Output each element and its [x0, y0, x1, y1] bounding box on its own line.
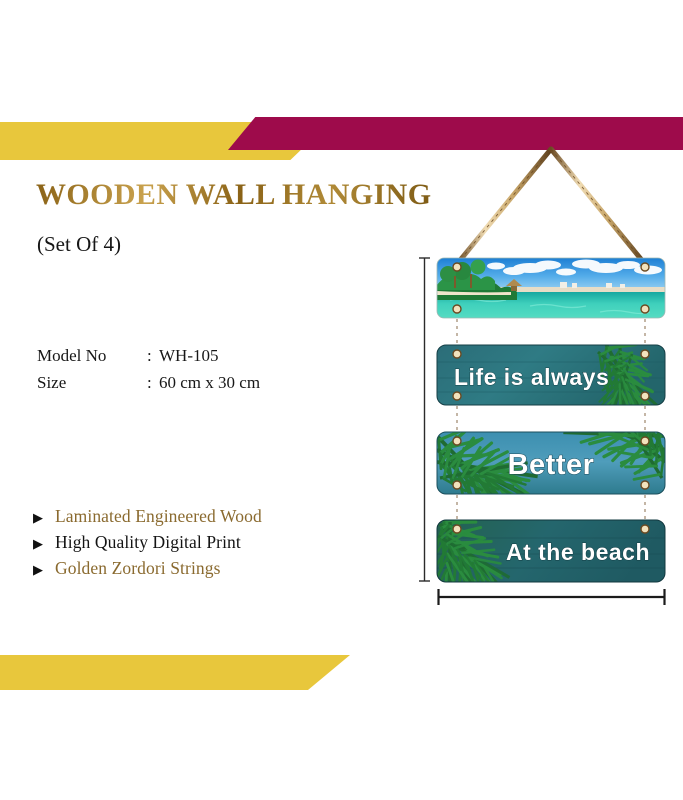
triangle-bullet-icon: ▶: [33, 537, 55, 550]
hanging-rope: [457, 149, 645, 264]
height-dimension-line: [419, 258, 430, 581]
page-subtitle: (Set Of 4): [37, 232, 121, 257]
triangle-bullet-icon: ▶: [33, 511, 55, 524]
product-image: Life is always Better: [410, 140, 683, 610]
hanging-rope-texture: [457, 149, 645, 264]
feature-item-material: ▶ Laminated Engineered Wood: [33, 506, 262, 532]
width-dimension-line: [438, 589, 665, 605]
feature-text-print: High Quality Digital Print: [55, 532, 241, 553]
spec-separator-size: :: [147, 373, 159, 393]
panel-beach-photo: [437, 258, 665, 318]
bottom-gold-ribbon: [0, 655, 350, 690]
connector-ropes: [457, 312, 645, 527]
feature-item-strings: ▶ Golden Zordori Strings: [33, 558, 262, 584]
triangle-bullet-icon: ▶: [33, 563, 55, 576]
product-listing-page: WOODEN WALL HANGING (Set Of 4) Model No …: [0, 0, 683, 800]
feature-list: ▶ Laminated Engineered Wood ▶ High Quali…: [33, 506, 262, 584]
panel-at-the-beach: At the beach: [410, 504, 665, 610]
feature-item-print: ▶ High Quality Digital Print: [33, 532, 262, 558]
spec-value-model: WH-105: [159, 346, 218, 366]
panel-text-at-the-beach: At the beach: [506, 539, 650, 565]
panel-text-life-is-always: Life is always: [454, 364, 609, 390]
spec-row-model: Model No : WH-105: [37, 346, 260, 373]
spec-label-model: Model No: [37, 346, 147, 366]
spec-value-size: 60 cm x 30 cm: [159, 373, 260, 393]
page-title: WOODEN WALL HANGING: [36, 178, 431, 212]
spec-row-size: Size : 60 cm x 30 cm: [37, 373, 260, 400]
feature-text-strings: Golden Zordori Strings: [55, 558, 221, 579]
specification-list: Model No : WH-105 Size : 60 cm x 30 cm: [37, 346, 260, 400]
spec-label-size: Size: [37, 373, 147, 393]
feature-text-material: Laminated Engineered Wood: [55, 506, 262, 527]
spec-separator-model: :: [147, 346, 159, 366]
panel-text-better: Better: [508, 449, 595, 481]
